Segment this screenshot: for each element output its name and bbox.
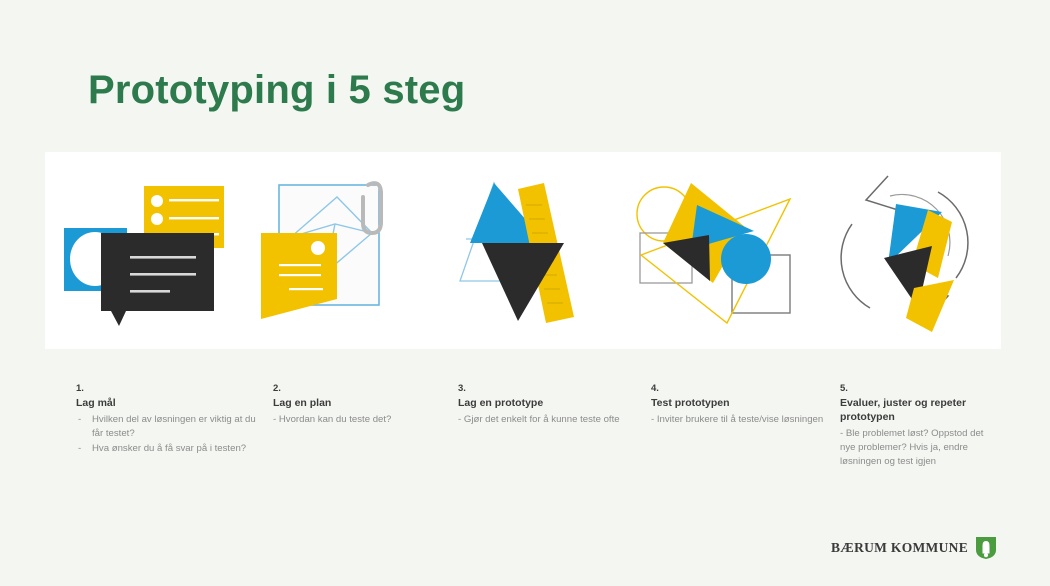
step-2: 2. Lag en plan - Hvordan kan du teste de… <box>268 382 450 502</box>
illustration-goal-svg <box>56 171 226 331</box>
step-3: 3. Lag en prototype - Gjør det enkelt fo… <box>450 382 646 502</box>
illustration-row <box>45 152 1001 349</box>
step-heading: Evaluer, juster og repeter prototypen <box>840 397 997 425</box>
black-speech-bubble <box>101 233 214 326</box>
list-bullet-dot <box>151 195 163 207</box>
note-dot <box>311 241 325 255</box>
illustration-goal <box>45 152 236 349</box>
step-number: 4. <box>651 382 826 396</box>
illustration-iterate-svg <box>830 168 980 333</box>
illustration-plan <box>236 152 427 349</box>
shield-icon <box>975 536 997 560</box>
step-body: - Ble problemet løst? Oppstod det nye pr… <box>840 427 997 469</box>
step-body: - Inviter brukere til å teste/vise løsni… <box>651 413 826 427</box>
page-title: Prototyping i 5 steg <box>88 68 465 113</box>
step-1: 1. Lag mål Hvilken del av løsningen er v… <box>45 382 268 502</box>
step-number: 3. <box>458 382 636 396</box>
slide: Prototyping i 5 steg <box>0 0 1050 586</box>
list-line <box>169 199 219 201</box>
step-body: - Gjør det enkelt for å kunne teste ofte <box>458 413 636 427</box>
step-5: 5. Evaluer, juster og repeter prototypen… <box>836 382 1007 502</box>
step-bullet: Hvilken del av løsningen er viktig at du… <box>76 413 258 441</box>
step-heading: Lag mål <box>76 397 258 411</box>
illustration-plan-svg <box>257 171 407 331</box>
list-line <box>169 217 219 219</box>
step-heading: Test prototypen <box>651 397 826 411</box>
illustration-prototype <box>427 152 618 349</box>
step-number: 2. <box>273 382 440 396</box>
steps-row: 1. Lag mål Hvilken del av løsningen er v… <box>45 382 1007 502</box>
illustration-iterate <box>810 152 1001 349</box>
step-heading: Lag en plan <box>273 397 440 411</box>
step-bullet-list: Hvilken del av løsningen er viktig at du… <box>76 413 258 456</box>
logo-text: BÆRUM KOMMUNE <box>831 540 968 556</box>
bubble-line <box>130 256 196 259</box>
step-number: 5. <box>840 382 997 396</box>
step-heading: Lag en prototype <box>458 397 636 411</box>
step-body: - Hvordan kan du teste det? <box>273 413 440 427</box>
arrow-arc-bottom <box>842 224 871 308</box>
footer-logo: BÆRUM KOMMUNE <box>831 536 997 560</box>
step-4: 4. Test prototypen - Inviter brukere til… <box>646 382 836 502</box>
black-triangle <box>663 235 710 281</box>
illustration-prototype-svg <box>446 171 601 331</box>
step-bullet: Hva ønsker du å få svar på i testen? <box>76 442 258 456</box>
illustration-test <box>619 152 810 349</box>
note-line <box>279 274 321 276</box>
illustration-test-svg <box>627 171 802 331</box>
bubble-line <box>130 290 170 293</box>
step-number: 1. <box>76 382 258 396</box>
list-bullet-dot <box>151 213 163 225</box>
note-line <box>289 288 323 290</box>
blue-circle <box>721 234 771 284</box>
bubble-line <box>130 273 196 276</box>
note-line <box>279 264 321 266</box>
arrow-head-top <box>866 176 898 210</box>
